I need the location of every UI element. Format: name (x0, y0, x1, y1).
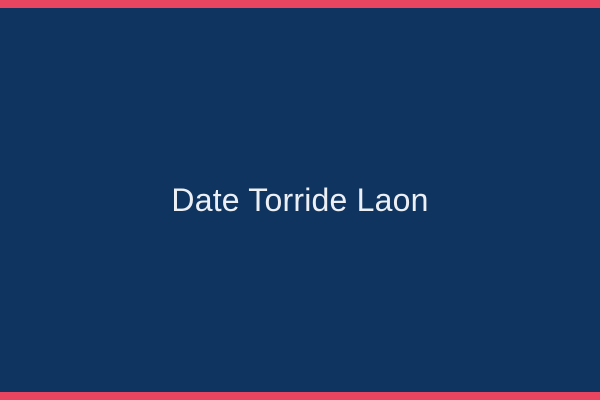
caption-area: Date Torride Laon (0, 8, 600, 392)
top-accent-rule (0, 0, 600, 8)
bottom-accent-rule (0, 392, 600, 400)
caption-text: Date Torride Laon (171, 181, 428, 219)
placeholder-canvas: Date Torride Laon (0, 0, 600, 400)
